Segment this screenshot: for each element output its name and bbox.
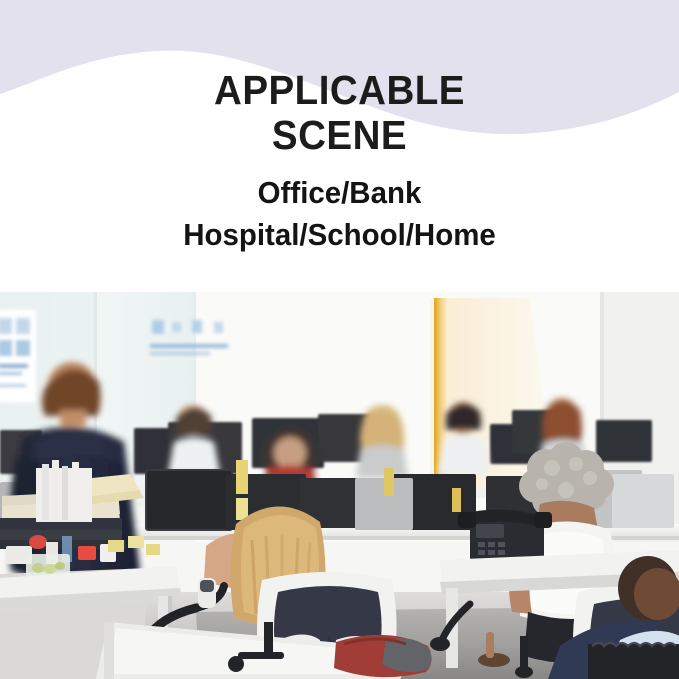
applicable-scene-banner-page: APPLICABLE SCENE Office/Bank Hospital/Sc…	[0, 0, 679, 679]
subtitle-line-1: Office/Bank	[17, 172, 662, 214]
headline-line-2: SCENE	[20, 113, 658, 158]
page-subtitle: Office/Bank Hospital/School/Home	[17, 172, 662, 256]
subtitle-line-2: Hospital/School/Home	[17, 214, 662, 256]
headline-line-1: APPLICABLE	[20, 68, 658, 113]
page-title: APPLICABLE SCENE	[20, 68, 658, 158]
banner-section: APPLICABLE SCENE Office/Bank Hospital/Sc…	[0, 0, 679, 292]
office-scene-photo	[0, 292, 679, 679]
